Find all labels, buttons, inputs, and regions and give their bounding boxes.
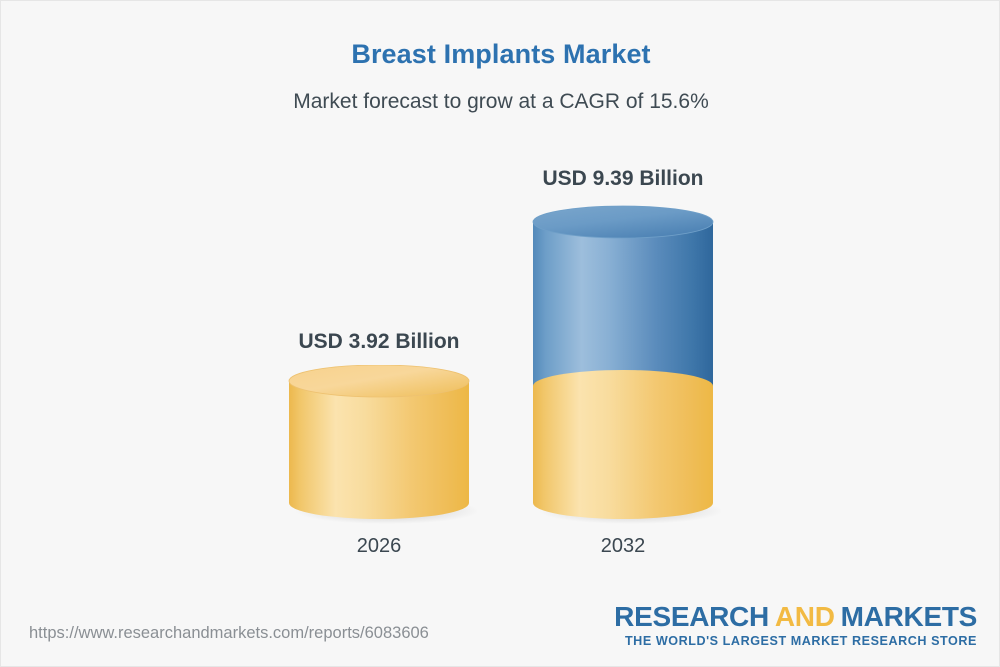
bar-value-label-2026: USD 3.92 Billion [279, 330, 479, 354]
bar-cylinder-2026 [287, 365, 477, 527]
bar-cylinder-2032 [531, 201, 721, 527]
bar-value-label-2032: USD 9.39 Billion [523, 167, 723, 191]
chart-plot-area: USD 3.92 Billion [1, 1, 1000, 601]
logo-wordmark: RESEARCHANDMARKETS [614, 603, 977, 631]
bar-category-label-2026: 2026 [279, 535, 479, 558]
bar-category-label-2032: 2032 [523, 535, 723, 558]
logo-tagline: THE WORLD'S LARGEST MARKET RESEARCH STOR… [614, 635, 977, 648]
research-and-markets-logo[interactable]: RESEARCHANDMARKETS THE WORLD'S LARGEST M… [614, 603, 977, 648]
logo-word-markets: MARKETS [841, 601, 977, 632]
logo-word-research: RESEARCH [614, 601, 769, 632]
report-url[interactable]: https://www.researchandmarkets.com/repor… [29, 624, 429, 643]
logo-word-and: AND [775, 601, 835, 632]
infographic-canvas: Breast Implants Market Market forecast t… [0, 0, 1000, 667]
